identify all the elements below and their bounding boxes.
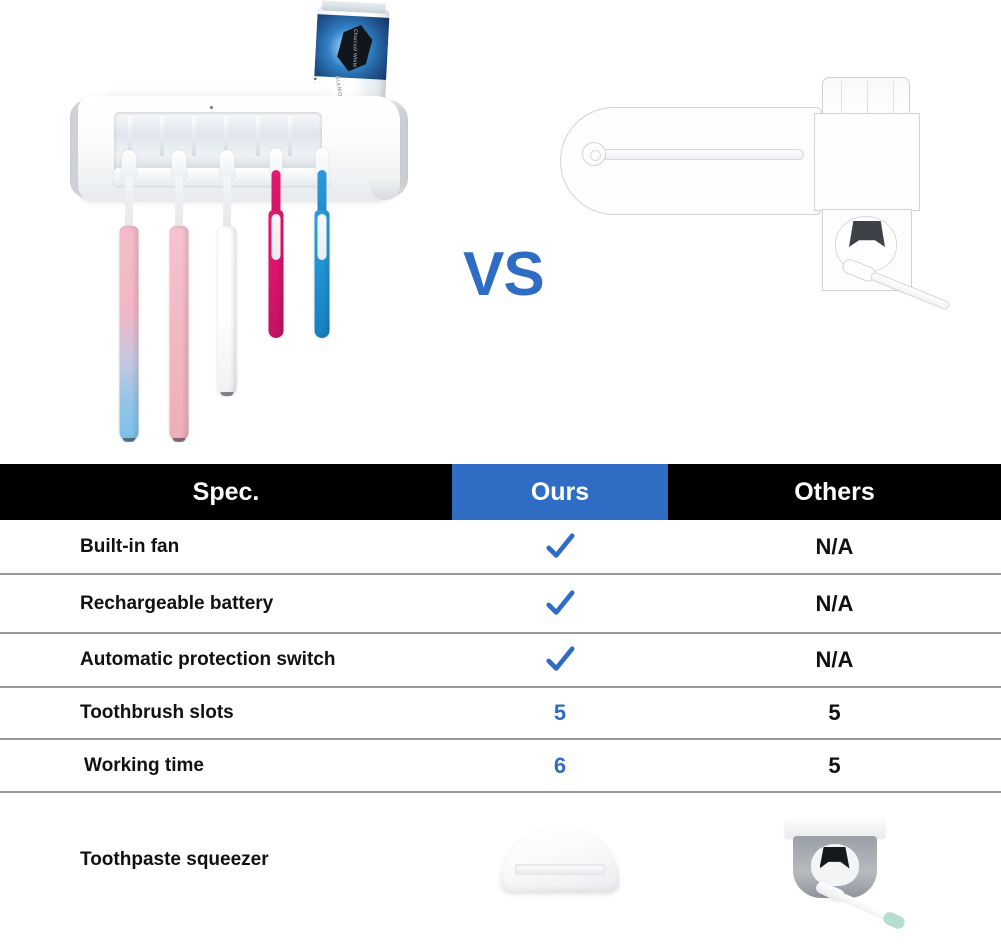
toothbrush-1 — [118, 150, 140, 450]
row-spec-label: Working time — [0, 755, 452, 777]
toothbrush-4-neck — [272, 170, 281, 214]
others-toothbrush-tail — [881, 910, 906, 931]
toothpaste-squeezer-image — [501, 828, 619, 892]
row-spec-label: Rechargeable battery — [0, 593, 452, 615]
toothbrush-2-neck — [175, 176, 183, 232]
row-spec-label: Automatic protection switch — [0, 649, 452, 671]
column-header-spec: Spec. — [0, 464, 452, 520]
toothbrush-4-grip — [272, 214, 281, 260]
toothbrush-1-neck — [125, 176, 133, 232]
toothbrush-2-handle — [170, 226, 189, 441]
tube-diamond-label: Charcoal White — [351, 29, 358, 67]
row-ours-value — [452, 645, 668, 675]
toothbrush-2-tip — [173, 438, 186, 442]
row-others-value: 5 — [668, 700, 1001, 726]
toothbrush-3-handle — [218, 226, 237, 396]
others-dispenser-barrel — [793, 836, 877, 898]
vs-label: VS — [463, 244, 544, 306]
check-icon — [545, 589, 575, 619]
column-header-ours: Ours — [452, 464, 668, 520]
check-icon — [545, 645, 575, 675]
row-others-value: N/A — [668, 591, 1001, 617]
row-others-value — [668, 818, 1001, 902]
row-others-value: N/A — [668, 534, 1001, 560]
comparison-table: Spec. Ours Others Built-in fan N/A Recha… — [0, 458, 1001, 923]
row-ours-value — [452, 828, 668, 892]
toothbrush-5-neck — [318, 170, 327, 214]
dispenser-arm-pivot — [582, 142, 606, 166]
table-header-row: Spec. Ours Others — [0, 458, 1001, 520]
check-icon — [545, 532, 575, 562]
others-dispenser-top — [785, 818, 885, 838]
others-dispenser-mouth — [811, 844, 859, 886]
others-dispenser-toothbrush — [807, 880, 906, 944]
row-spec-label: Toothbrush slots — [0, 702, 452, 724]
row-others-value: 5 — [668, 753, 1001, 779]
toothbrush-3 — [216, 150, 238, 410]
row-spec-label: Toothpaste squeezer — [0, 849, 452, 871]
left-product-image: Charcoal White hite Glo DIAMOND SERIES — [70, 0, 450, 458]
toothbrush-3-neck — [223, 176, 231, 232]
row-ours-value — [452, 589, 668, 619]
table-row: Rechargeable battery N/A — [0, 575, 1001, 634]
dispenser-cap — [822, 77, 910, 115]
row-ours-value — [452, 532, 668, 562]
toothbrush-2 — [168, 150, 190, 450]
table-row: Toothpaste squeezer — [0, 793, 1001, 926]
right-product-image — [560, 75, 980, 345]
toothbrush-4 — [266, 148, 286, 358]
others-dispenser-image — [779, 818, 891, 902]
product-comparison-hero: Charcoal White hite Glo DIAMOND SERIES — [0, 0, 1001, 458]
column-header-others: Others — [668, 464, 1001, 520]
toothbrush-3-tip — [221, 392, 234, 396]
toothbrush-5-grip — [318, 214, 327, 260]
sterilizer-indicator-led — [210, 106, 213, 109]
table-row: Toothbrush slots 5 5 — [0, 688, 1001, 740]
table-row: Built-in fan N/A — [0, 520, 1001, 575]
dispenser-arm-slot — [588, 149, 804, 160]
table-row: Working time 6 5 — [0, 740, 1001, 793]
toothbrush-1-tip — [123, 438, 136, 442]
toothbrush-5 — [312, 148, 332, 358]
table-row: Automatic protection switch N/A — [0, 634, 1001, 688]
toothbrush-1-handle — [120, 226, 139, 441]
dispenser-housing — [814, 113, 920, 211]
row-others-value: N/A — [668, 647, 1001, 673]
row-ours-value: 5 — [452, 700, 668, 726]
row-ours-value: 6 — [452, 753, 668, 779]
row-spec-label: Built-in fan — [0, 536, 452, 558]
